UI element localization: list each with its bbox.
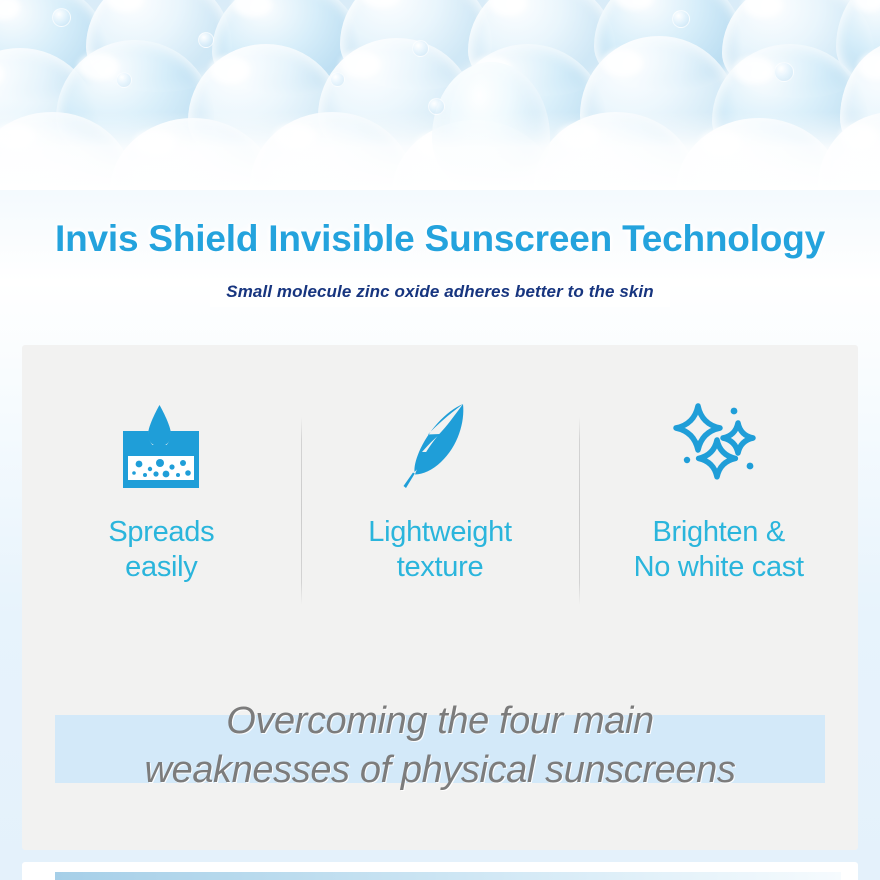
banner-fade-overlay bbox=[0, 112, 880, 190]
page-subtitle: Small molecule zinc oxide adheres better… bbox=[210, 278, 670, 307]
skin-absorption-droplet-icon bbox=[115, 395, 207, 497]
subtitle-container: Small molecule zinc oxide adheres better… bbox=[0, 278, 880, 307]
feature-label: Lightweight texture bbox=[368, 515, 511, 586]
feather-icon bbox=[401, 395, 479, 497]
bottom-section bbox=[22, 862, 858, 880]
product-infographic-page: Invis Shield Invisible Sunscreen Technol… bbox=[0, 0, 880, 880]
sparkles-icon bbox=[672, 395, 766, 497]
feature-list: Spreads easily Lightweight texture bbox=[22, 395, 858, 625]
feature-item-brighten-no-white-cast: Brighten & No white cast bbox=[579, 395, 858, 625]
page-title: Invis Shield Invisible Sunscreen Technol… bbox=[0, 218, 880, 260]
feature-label: Spreads easily bbox=[108, 515, 214, 586]
feature-item-lightweight-texture: Lightweight texture bbox=[301, 395, 580, 625]
overcoming-text: Overcoming the four main weaknesses of p… bbox=[22, 697, 858, 794]
overcoming-banner: Overcoming the four main weaknesses of p… bbox=[22, 697, 858, 847]
feature-label: Brighten & No white cast bbox=[634, 515, 804, 586]
bottom-gradient-bar bbox=[55, 872, 841, 880]
feature-item-spreads-easily: Spreads easily bbox=[22, 395, 301, 625]
bubble-banner bbox=[0, 0, 880, 190]
feature-card: Spreads easily Lightweight texture bbox=[22, 345, 858, 850]
